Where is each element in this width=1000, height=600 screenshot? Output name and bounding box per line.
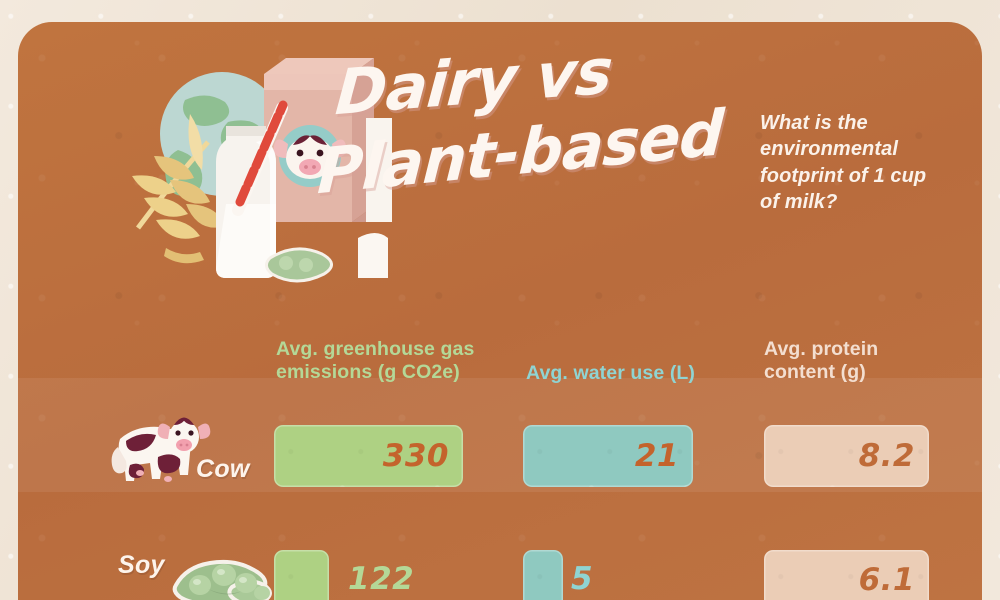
row-label-cow: Cow: [196, 455, 250, 484]
bar-cow-protein: 8.2: [764, 425, 929, 487]
bar-value-cow-emissions: 330: [383, 438, 463, 474]
column-header-water: Avg. water use (L): [526, 362, 741, 385]
soybean-icon: [170, 541, 280, 600]
infographic-card: Dairy vs Plant-based What is the environ…: [18, 22, 982, 600]
cow-icon: [106, 413, 206, 491]
bar-value-soy-protein: 6.1: [859, 562, 929, 598]
bar-soy-water: [523, 550, 563, 600]
title-block: Dairy vs Plant-based: [318, 64, 738, 244]
bar-cow-emissions: 330: [274, 425, 463, 487]
bar-value-cow-water: 21: [635, 438, 693, 474]
subtitle-question: What is the environmental footprint of 1…: [760, 110, 945, 216]
infographic-page: Dairy vs Plant-based What is the environ…: [0, 0, 1000, 600]
column-header-emissions: Avg. greenhouse gas emissions (g CO2e): [276, 338, 511, 384]
bar-value-soy-water: 5: [571, 561, 593, 597]
soybean-icon: [266, 249, 331, 281]
row-label-soy: Soy: [118, 551, 165, 580]
bar-soy-emissions: [274, 550, 329, 600]
column-header-protein: Avg. protein content (g): [764, 338, 944, 384]
bar-value-soy-emissions: 122: [348, 561, 414, 597]
bar-value-cow-protein: 8.2: [859, 438, 929, 474]
bar-cow-water: 21: [523, 425, 693, 487]
bar-soy-protein: 6.1: [764, 550, 929, 600]
